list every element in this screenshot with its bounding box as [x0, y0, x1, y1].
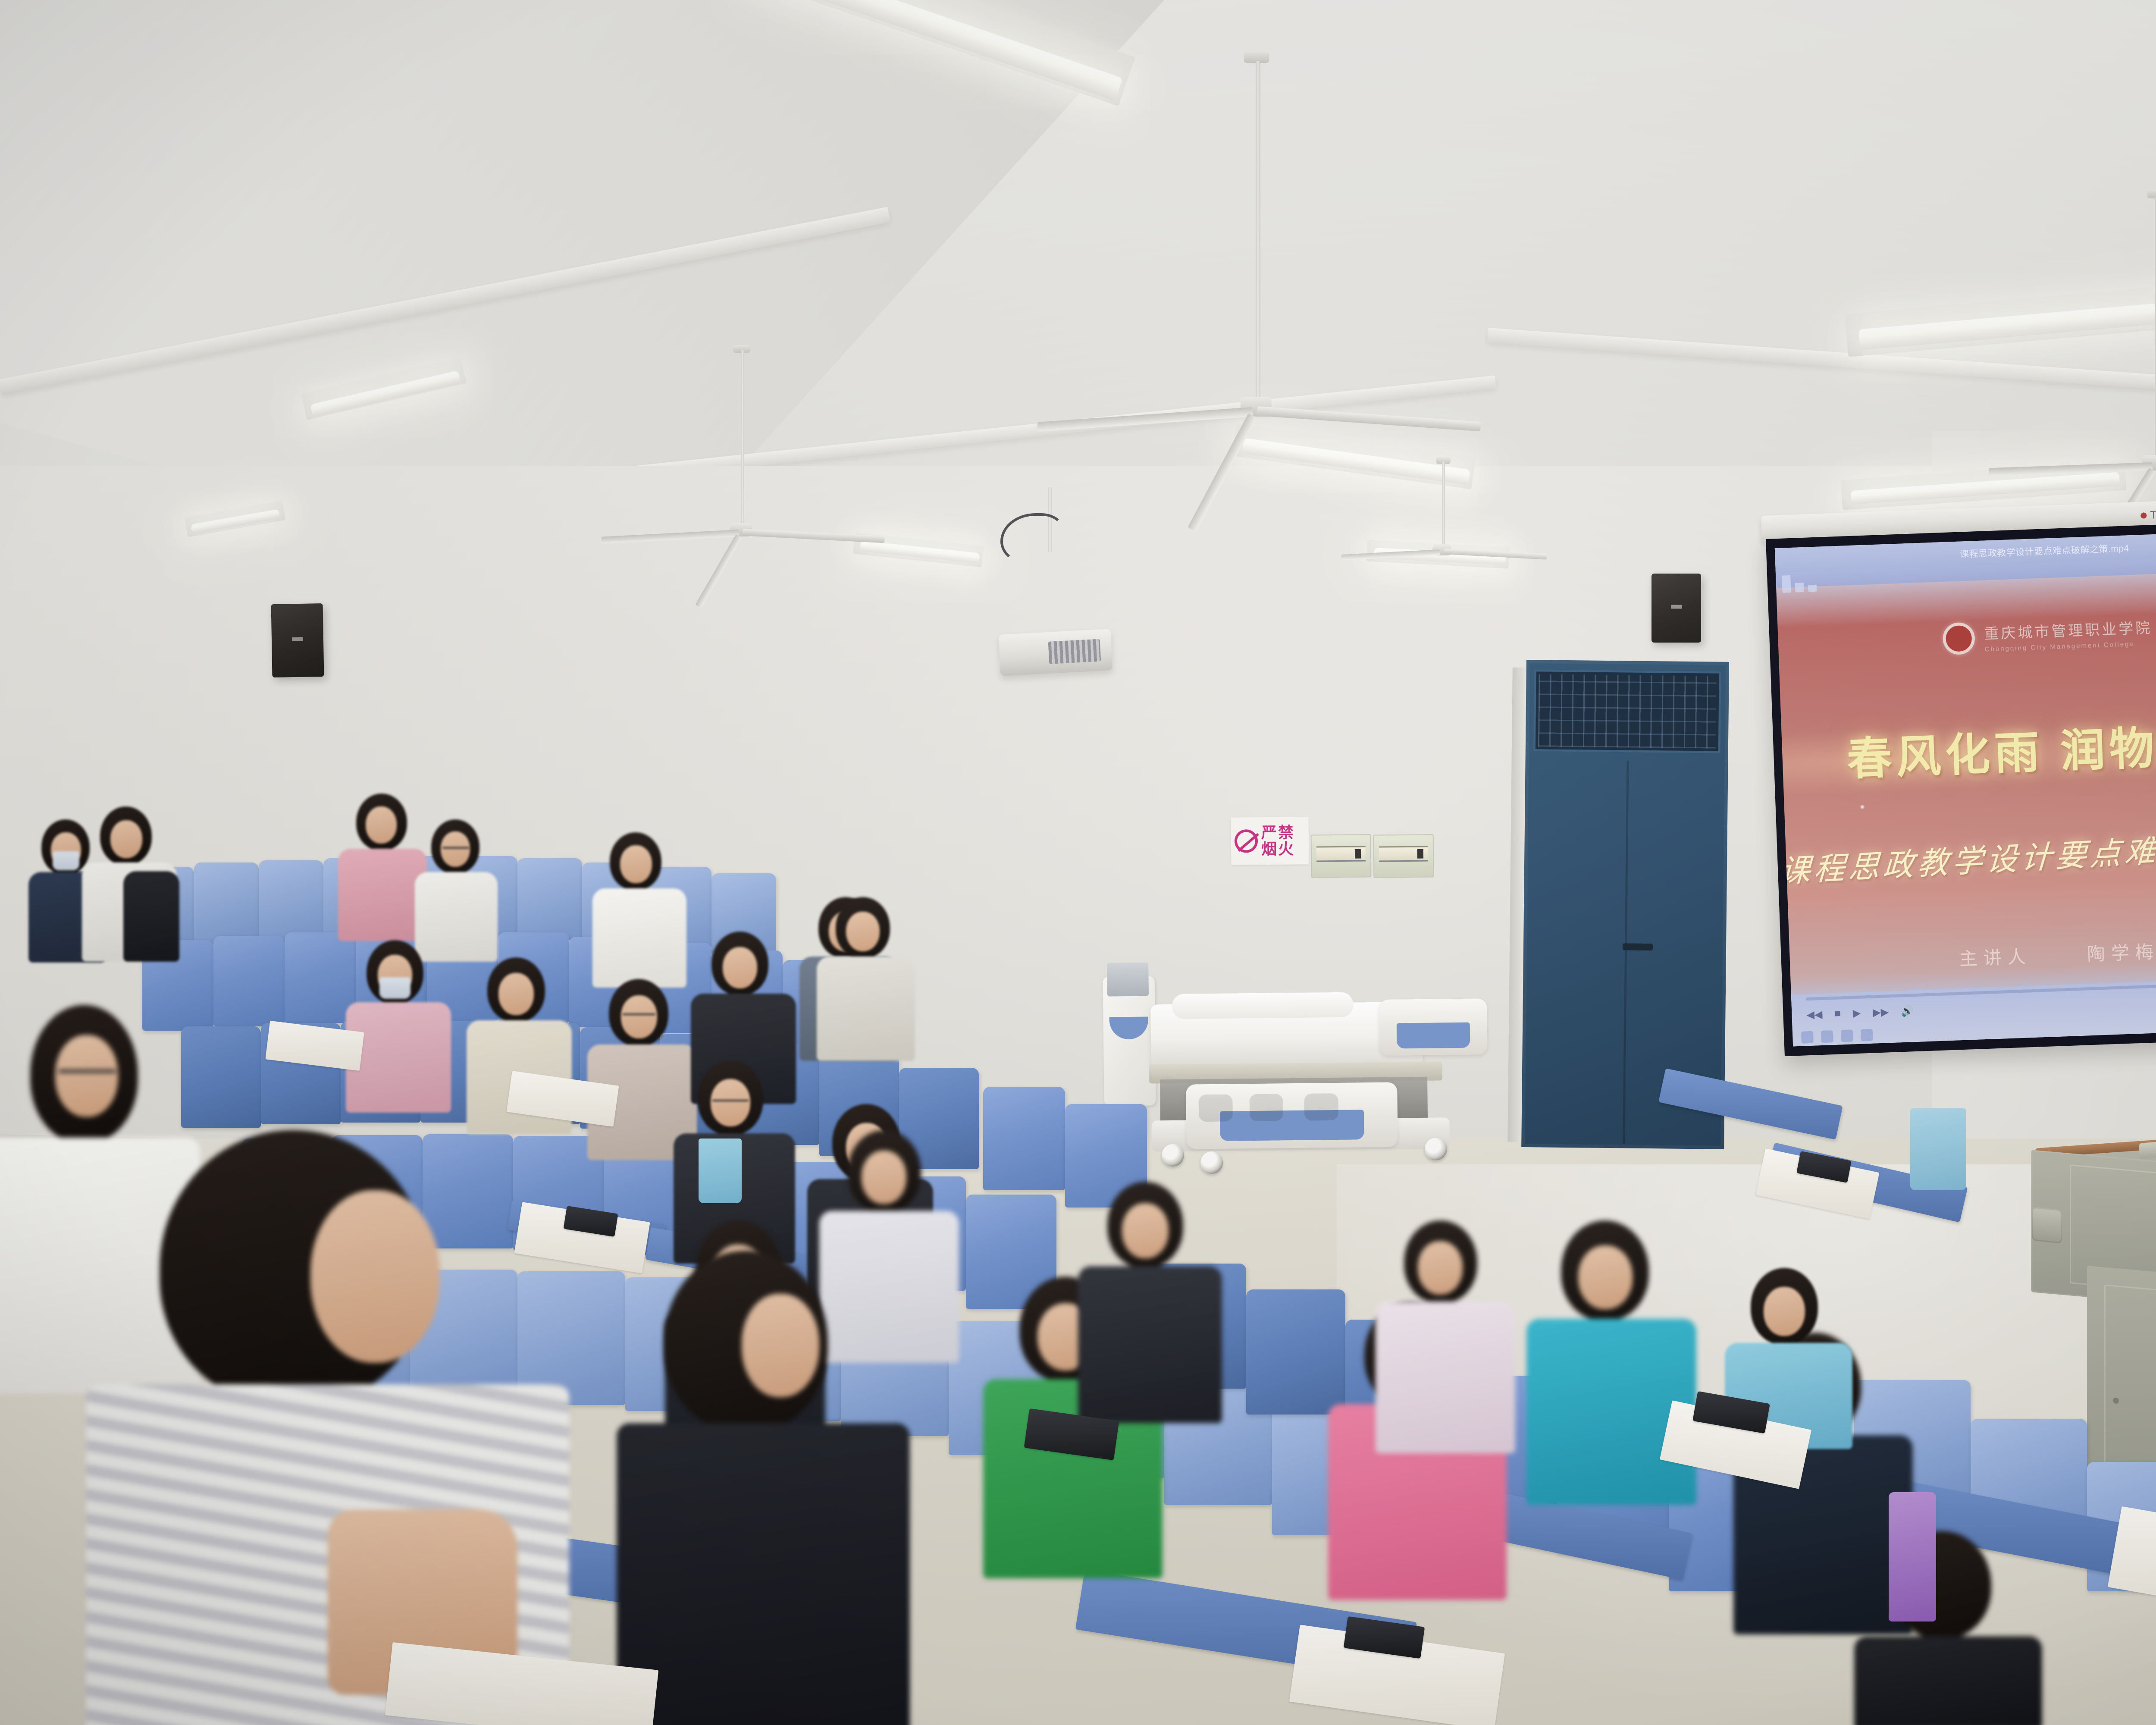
audience-person	[591, 832, 690, 988]
audience-person	[82, 806, 181, 962]
wall-switch-panel[interactable]	[1373, 834, 1434, 878]
bed-side-rail[interactable]	[1379, 998, 1487, 1056]
door-split-line	[1623, 761, 1629, 1144]
bed-caster	[1162, 1144, 1185, 1167]
audience-person	[1854, 1531, 2044, 1725]
audience-person	[1376, 1220, 1518, 1453]
media-player-title: 课程思政教学设计要点难点破解之策.mp4	[1960, 541, 2130, 560]
institution-logo: 重庆城市管理职业学院 Chongqing City Management Col…	[1942, 615, 2153, 655]
wall-speaker-right	[1651, 574, 1701, 643]
no-smoking-line-1: 严禁	[1261, 825, 1295, 841]
slide-title: 春风化雨 润物无声	[1846, 708, 2156, 788]
wall-speaker-left	[271, 603, 324, 677]
no-smoking-icon	[1235, 829, 1258, 853]
taskbar-icons[interactable]	[1801, 1029, 1873, 1044]
audience-person	[815, 897, 918, 1061]
institution-name-cn: 重庆城市管理职业学院	[1984, 616, 2153, 643]
hospital-bed	[1103, 968, 1484, 1183]
next-icon[interactable]: ▶▶	[1873, 1006, 1889, 1019]
presenter-label: 主讲人	[1959, 946, 2032, 969]
play-icon[interactable]: ▶	[1852, 1007, 1861, 1019]
audience-person	[1078, 1182, 1225, 1423]
projector-lens	[1048, 639, 1101, 664]
slide-subtitle: 课程思政教学设计要点难点破解之策	[1778, 816, 2156, 891]
presenter-name: 陶学梅	[2087, 941, 2156, 964]
no-smoking-line-2: 烟火	[1261, 841, 1295, 857]
stop-icon[interactable]: ■	[1834, 1007, 1841, 1020]
bed-caster	[1425, 1138, 1448, 1160]
bed-caster	[1200, 1151, 1223, 1174]
volume-icon[interactable]: 🔊	[1901, 1005, 1914, 1018]
podium-handle[interactable]	[2032, 1207, 2062, 1243]
audience-person	[345, 940, 453, 1113]
bed-side-rail[interactable]	[1186, 1082, 1398, 1149]
bed-control-panel[interactable]	[1107, 963, 1149, 997]
door-transom	[1533, 669, 1721, 753]
previous-icon[interactable]: ◀◀	[1806, 1008, 1823, 1021]
audience-person-foreground	[612, 1251, 914, 1725]
water-bottle	[1889, 1492, 1936, 1621]
logo-mark-icon	[1942, 622, 1975, 655]
bed-pillow	[1172, 992, 1354, 1019]
projection-screen: 课程思政教学设计要点难点破解之策.mp4 — □ ✕ 重庆城市管理职业	[1766, 519, 2156, 1056]
audience-person	[1526, 1220, 1699, 1505]
wall-switch-panel[interactable]	[1311, 834, 1372, 878]
lecture-hall-photo: 严禁 烟火 ThreeStars 课程思政教学设计要点难点破解之策.mp4	[0, 0, 2156, 1725]
brand-dot-icon	[2140, 512, 2147, 519]
grille-icon	[1538, 674, 1717, 748]
projected-slide: 课程思政教学设计要点难点破解之策.mp4 — □ ✕ 重庆城市管理职业	[1775, 528, 2156, 1046]
cup	[1910, 1108, 1966, 1190]
slide-content: 重庆城市管理职业学院 Chongqing City Management Col…	[1776, 568, 2156, 994]
no-smoking-sign: 严禁 烟火	[1231, 817, 1309, 865]
door-handle[interactable]	[1623, 944, 1653, 951]
cup	[699, 1138, 742, 1203]
slide-presenter-line: 主讲人 陶学梅	[1959, 937, 2156, 971]
screen-brand-label: ThreeStars	[2140, 506, 2156, 522]
